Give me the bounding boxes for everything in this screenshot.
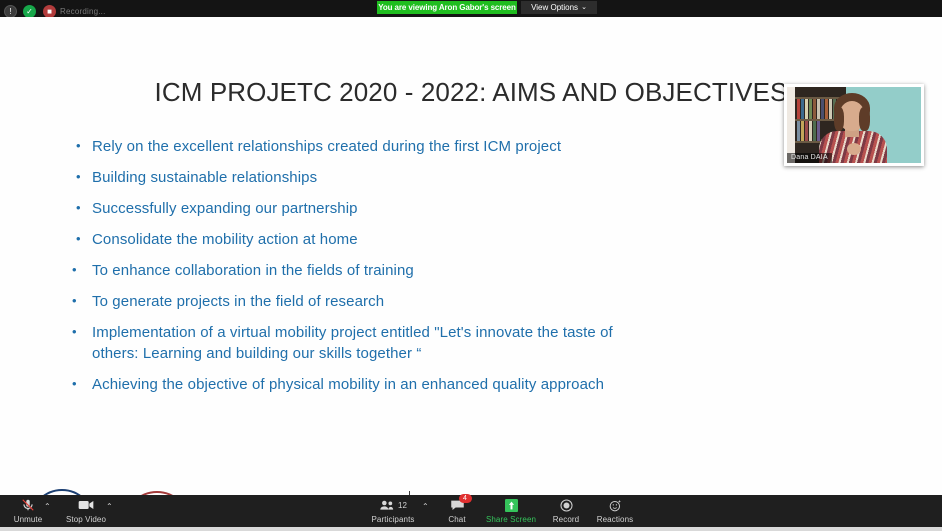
person-hair-left [834, 107, 844, 131]
slide-bullet-6-line-1: To generate projects in the field of res… [92, 291, 772, 312]
participants-label: Participants [372, 515, 415, 524]
record-icon [560, 498, 573, 512]
unmute-label: Unmute [14, 515, 43, 524]
video-feed: Dana DAIA [787, 87, 921, 163]
slide-bullet-7: • Implementation of a virtual mobility p… [72, 322, 792, 364]
participants-button[interactable]: 12 Participants [358, 498, 428, 524]
microphone-muted-icon [21, 498, 35, 512]
chevron-down-icon: ⌄ [581, 3, 587, 11]
bullet-marker-icon: • [72, 376, 77, 392]
zoom-meeting-window: ! ✓ ■ Recording... You are viewing Aron … [0, 0, 942, 531]
person-hand [847, 143, 861, 155]
reactions-label: Reactions [597, 515, 633, 524]
audio-options-caret-icon[interactable]: ⌃ [44, 503, 51, 511]
stop-video-label: Stop Video [66, 515, 106, 524]
slide-bullet-5-line-1: To enhance collaboration in the fields o… [92, 260, 772, 281]
view-options-label: View Options [531, 3, 578, 12]
chat-label: Chat [448, 515, 465, 524]
view-options-button[interactable]: View Options ⌄ [521, 1, 597, 14]
share-screen-label: Share Screen [486, 515, 536, 524]
slide-bullet-6: • To generate projects in the field of r… [72, 291, 772, 312]
slide-bullet-5: • To enhance collaboration in the fields… [72, 260, 772, 281]
slide-bullet-4: • Consolidate the mobility action at hom… [76, 229, 776, 250]
chat-unread-badge: 4 [459, 494, 472, 503]
slide-bullet-7-line-2: others: Learning and building our skills… [92, 343, 792, 364]
reactions-icon [609, 498, 622, 512]
slide-bullet-8: • Achieving the objective of physical mo… [72, 374, 772, 395]
meeting-toolbar: Unmute ⌃ Stop Video ⌃ Stop Video (Alt+V) [0, 495, 942, 527]
participant-name-label: Dana DAIA [787, 153, 832, 163]
participants-icon: 12 [379, 498, 407, 512]
viewing-screen-banner: You are viewing Aron Gabor's screen [377, 1, 517, 14]
desktop-edge-strip [0, 527, 942, 531]
slide-bullet-7-line-1: Implementation of a virtual mobility pro… [92, 322, 792, 343]
chat-icon: 4 [450, 498, 465, 512]
recording-label: Recording... [60, 7, 106, 16]
record-label: Record [553, 515, 579, 524]
video-camera-icon [78, 498, 94, 512]
participants-count: 12 [398, 501, 407, 510]
video-options-caret-icon[interactable]: ⌃ [106, 503, 113, 511]
bullet-marker-icon: • [76, 169, 81, 185]
bullet-marker-icon: • [76, 138, 81, 154]
slide-bullet-8-line-1: Achieving the objective of physical mobi… [92, 374, 772, 395]
top-status-bar: ! ✓ ■ Recording... You are viewing Aron … [0, 0, 942, 17]
share-screen-icon [505, 498, 518, 512]
person-hair-right [859, 107, 870, 131]
slide-bullet-2: • Building sustainable relationships [76, 167, 776, 188]
bullet-marker-icon: • [76, 200, 81, 216]
reactions-button[interactable]: Reactions [580, 498, 650, 524]
bullet-marker-icon: • [72, 262, 77, 278]
slide-bullet-3-line-1: Successfully expanding our partnership [92, 198, 776, 219]
slide-bullet-4-line-1: Consolidate the mobility action at home [92, 229, 776, 250]
slide-bullet-2-line-1: Building sustainable relationships [92, 167, 776, 188]
participant-video-tile[interactable]: Dana DAIA [784, 84, 924, 166]
slide-bullet-1: • Rely on the excellent relationships cr… [76, 136, 776, 157]
slide-bullet-3: • Successfully expanding our partnership [76, 198, 776, 219]
bullet-marker-icon: • [72, 293, 77, 309]
slide-bullet-1-line-1: Rely on the excellent relationships crea… [92, 136, 776, 157]
bullet-marker-icon: • [72, 324, 77, 340]
bullet-marker-icon: • [76, 231, 81, 247]
